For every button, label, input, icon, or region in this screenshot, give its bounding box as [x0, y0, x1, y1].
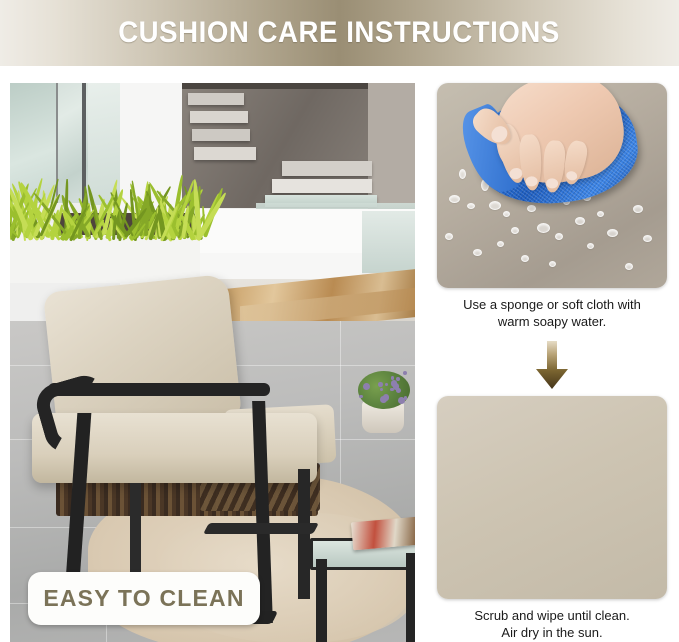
water-droplet	[575, 217, 585, 225]
hero-photo	[10, 83, 415, 642]
water-droplet	[607, 229, 618, 237]
side-table-leg-left	[316, 559, 327, 642]
floating-stair	[282, 161, 372, 176]
step-dry-caption: Scrub and wipe until clean. Air dry in t…	[437, 607, 667, 641]
water-droplet	[459, 169, 466, 179]
easy-to-clean-badge: EASY TO CLEAN	[28, 572, 260, 625]
water-droplet	[503, 211, 510, 217]
water-droplet	[537, 223, 550, 233]
step-wipe-caption-line1: Use a sponge or soft cloth with	[437, 296, 667, 313]
floating-stair	[192, 129, 250, 141]
side-table-leg-right	[406, 553, 415, 642]
water-droplet	[625, 263, 633, 270]
water-droplet	[521, 255, 529, 262]
chair-leg-back-right	[298, 469, 310, 599]
bush-bloom	[396, 377, 400, 381]
step-dry-caption-line1: Scrub and wipe until clean.	[437, 607, 667, 624]
water-droplet	[643, 235, 652, 242]
water-droplet	[549, 261, 556, 267]
instruction-steps-column: Use a sponge or soft cloth with warm soa…	[437, 83, 667, 642]
step-dry-image	[437, 396, 667, 599]
ornamental-grass	[10, 165, 204, 235]
chair-leg-back-left	[130, 483, 141, 573]
water-droplet	[489, 201, 501, 210]
easy-to-clean-label: EASY TO CLEAN	[43, 585, 244, 612]
glass-railing-right	[362, 211, 415, 273]
fingernail	[488, 123, 511, 146]
water-droplet	[633, 205, 643, 213]
water-droplet	[527, 205, 536, 212]
floating-stair	[188, 93, 244, 105]
water-droplet	[445, 233, 453, 240]
bush-bloom	[363, 383, 370, 390]
fingernail	[565, 170, 578, 181]
page-title: CUSHION CARE INSTRUCTIONS	[119, 16, 561, 50]
step-wipe-caption-line2: warm soapy water.	[437, 313, 667, 330]
chair-skid-rear	[203, 523, 319, 534]
header-banner: CUSHION CARE INSTRUCTIONS	[0, 0, 679, 66]
fingernail	[546, 178, 559, 189]
fingernail	[525, 176, 538, 187]
down-arrow-icon	[535, 341, 569, 389]
magazine	[351, 516, 415, 551]
bush-bloom	[398, 397, 405, 404]
bush-bloom	[393, 383, 399, 389]
step-flow-arrow	[437, 340, 667, 390]
water-droplet	[511, 227, 519, 234]
potted-bush	[358, 371, 410, 409]
water-droplet	[467, 203, 475, 209]
interior-right-wall	[368, 83, 415, 211]
bush-bloom	[378, 382, 383, 387]
floating-stair	[194, 147, 256, 160]
water-droplet	[497, 241, 504, 247]
floating-stair	[190, 111, 248, 123]
bush-bloom	[391, 376, 394, 379]
step-wipe-image	[437, 83, 667, 288]
water-droplet	[587, 243, 594, 249]
water-droplet	[555, 233, 563, 240]
water-droplet	[597, 211, 604, 217]
floating-stair	[272, 179, 372, 193]
step-wipe-caption: Use a sponge or soft cloth with warm soa…	[437, 296, 667, 330]
water-droplet	[449, 195, 460, 203]
step-dry-caption-line2: Air dry in the sun.	[437, 624, 667, 641]
water-droplet	[473, 249, 482, 256]
bush-bloom	[385, 383, 388, 386]
bush-bloom	[380, 388, 384, 392]
bush-bloom	[390, 388, 394, 392]
bush-bloom	[380, 396, 387, 403]
bush-bloom	[359, 395, 363, 399]
cushion-care-infographic: CUSHION CARE INSTRUCTIONS	[0, 0, 679, 642]
